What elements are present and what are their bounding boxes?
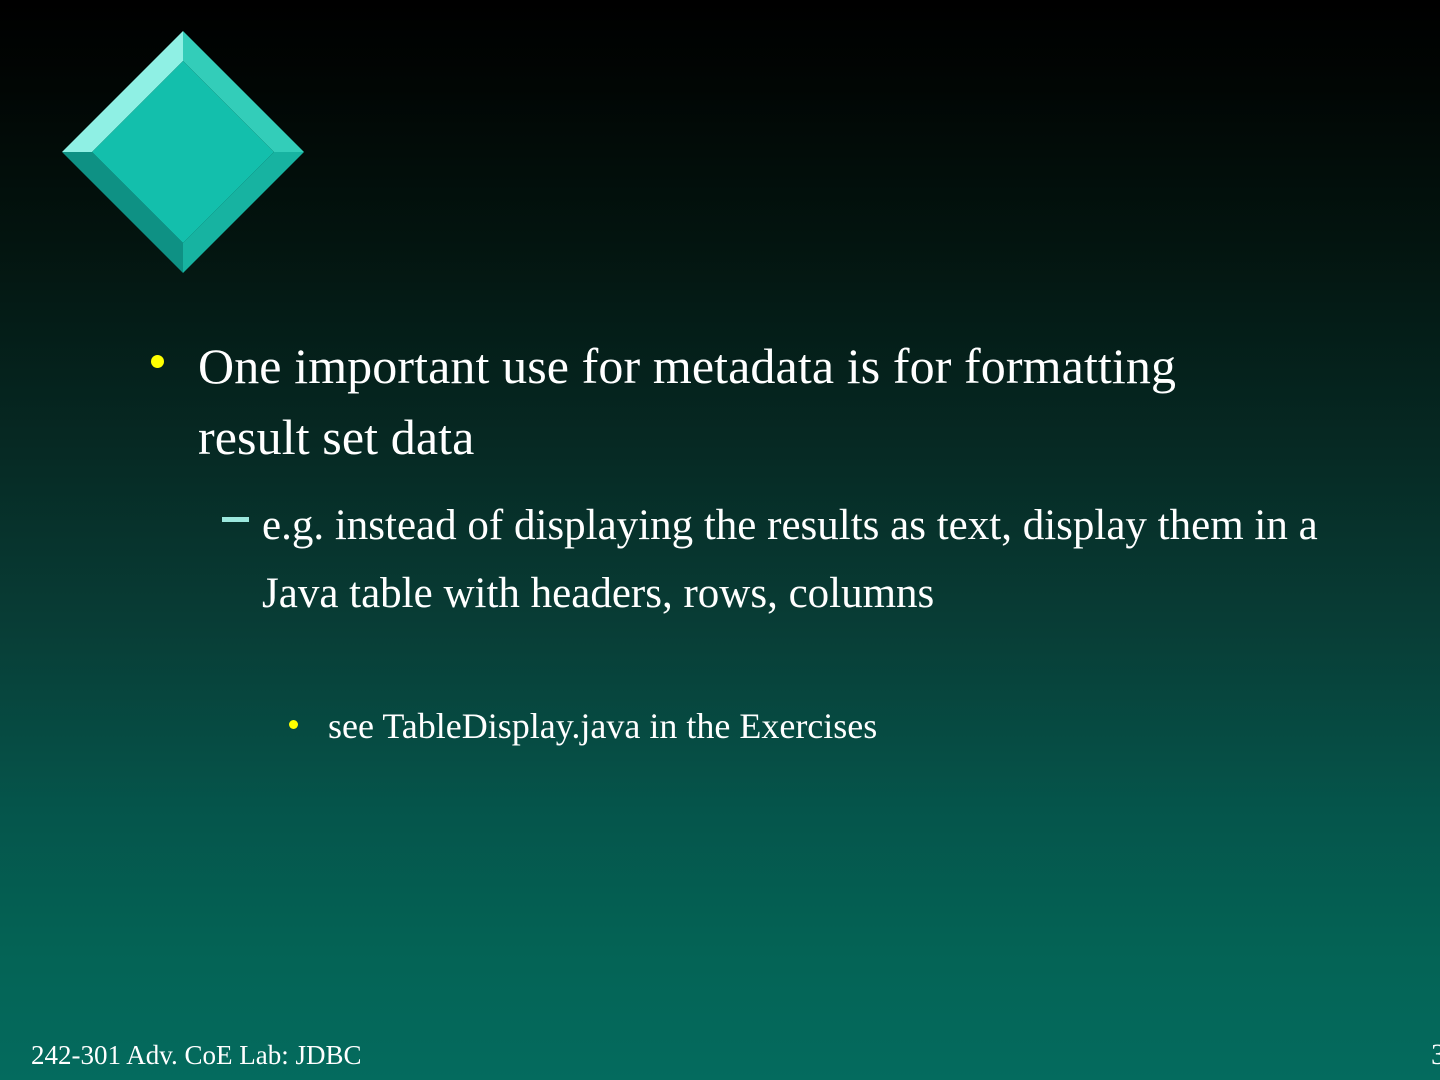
bullet-level1-text: One important use for metadata is for fo… [198, 331, 1200, 473]
slide-content: One important use for metadata is for fo… [0, 0, 1440, 1080]
bullet-item-level1: One important use for metadata is for fo… [140, 331, 1200, 473]
presentation-slide: One important use for metadata is for fo… [0, 0, 1440, 1080]
slide-number: 3 [1431, 1038, 1440, 1072]
bullet-item-level3: see TableDisplay.java in the Exercises [280, 699, 1180, 754]
bullet-dash-aqua-icon [222, 517, 249, 522]
bullet-item-level2: e.g. instead of displaying the results a… [210, 492, 1350, 628]
bullet-dot-yellow-small-icon [289, 720, 298, 729]
bullet-dot-yellow-icon [151, 355, 164, 368]
footer-course-label: 242-301 Adv. CoE Lab: JDBC [31, 1038, 362, 1072]
bullet-level3-text: see TableDisplay.java in the Exercises [328, 699, 1180, 754]
bullet-level2-text: e.g. instead of displaying the results a… [262, 492, 1350, 628]
